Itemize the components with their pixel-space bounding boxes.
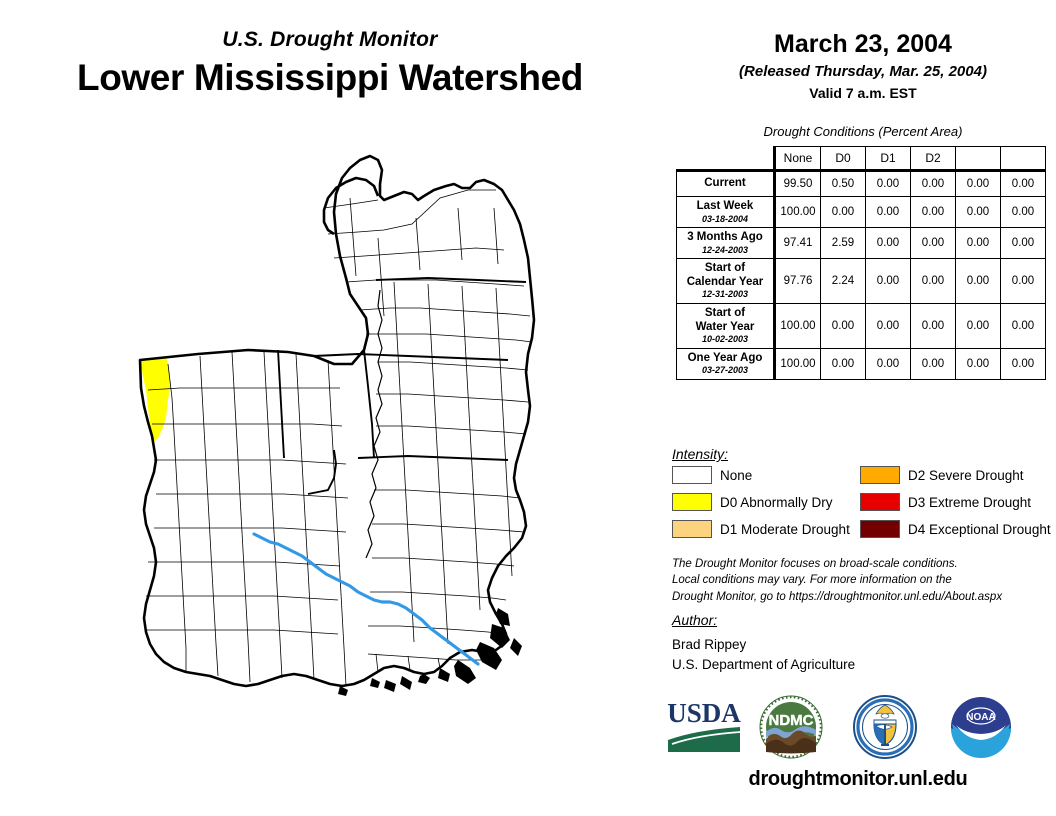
logo-row: USDA NDMC NOAA — [660, 694, 1056, 764]
column-header-d1: D1 — [866, 147, 911, 171]
cell-d3: 0.00 — [956, 197, 1001, 228]
author-label: Author: — [672, 612, 717, 628]
cell-d0: 0.00 — [821, 348, 866, 379]
row-label: One Year Ago03-27-2003 — [677, 348, 775, 379]
legend-swatch-d4 — [860, 520, 900, 538]
column-header-d2: D2 — [911, 147, 956, 171]
row-label-text: Last Week — [679, 200, 771, 214]
legend-swatch-d0 — [672, 493, 712, 511]
cell-d2: 0.00 — [911, 348, 956, 379]
author-organization: U.S. Department of Agriculture — [672, 655, 855, 675]
author-block: Brad Rippey U.S. Department of Agricultu… — [672, 635, 855, 674]
cell-d3: 0.00 — [956, 304, 1001, 349]
row-label-date: 10-02-2003 — [679, 334, 771, 345]
table-row: 3 Months Ago12-24-200397.412.590.000.000… — [677, 228, 1046, 259]
cell-d4: 0.00 — [1001, 197, 1046, 228]
legend-label: None — [720, 468, 752, 483]
row-label: Last Week03-18-2004 — [677, 197, 775, 228]
legend-item-d2: D2 Severe Drought — [860, 466, 1046, 484]
row-label-text: 3 Months Ago — [679, 231, 771, 245]
row-label-text: Start of — [679, 262, 771, 276]
cell-d1: 0.00 — [866, 197, 911, 228]
author-name: Brad Rippey — [672, 635, 855, 655]
legend-item-d0: D0 Abnormally Dry — [672, 493, 858, 511]
row-label-text: Water Year — [679, 321, 771, 335]
legend-item-d1: D1 Moderate Drought — [672, 520, 858, 538]
column-header-d3: D3 — [956, 147, 1001, 171]
cell-d3: 0.00 — [956, 348, 1001, 379]
cell-none: 97.76 — [775, 259, 821, 304]
commerce-seal — [852, 694, 918, 760]
row-label-date: 03-27-2003 — [679, 365, 771, 376]
cell-d0: 0.50 — [821, 171, 866, 197]
cell-none: 99.50 — [775, 171, 821, 197]
cell-d1: 0.00 — [866, 171, 911, 197]
row-label-date: 12-24-2003 — [679, 245, 771, 256]
row-label-text: One Year Ago — [679, 352, 771, 366]
column-header-none: None — [775, 147, 821, 171]
svg-text:NDMC: NDMC — [769, 712, 814, 729]
row-label-text: Current — [679, 177, 771, 191]
county-boundaries — [146, 190, 532, 686]
cell-d2: 0.00 — [911, 228, 956, 259]
mississippi-river — [254, 534, 478, 664]
cell-d0: 2.24 — [821, 259, 866, 304]
cell-d1: 0.00 — [866, 228, 911, 259]
legend-item-d4: D4 Exceptional Drought — [860, 520, 1046, 538]
release-date: (Released Thursday, Mar. 25, 2004) — [670, 63, 1056, 80]
row-label-date: 12-31-2003 — [679, 289, 771, 300]
ndmc-logo: NDMC — [758, 694, 824, 760]
cell-none: 100.00 — [775, 348, 821, 379]
disclaimer-line-3: Drought Monitor, go to https://droughtmo… — [672, 589, 1056, 605]
cell-none: 97.41 — [775, 228, 821, 259]
cell-d3: 0.00 — [956, 259, 1001, 304]
cell-d1: 0.00 — [866, 259, 911, 304]
cell-d2: 0.00 — [911, 259, 956, 304]
column-header-d0: D0 — [821, 147, 866, 171]
cell-none: 100.00 — [775, 197, 821, 228]
table-corner-cell — [677, 147, 775, 171]
row-label: Start ofWater Year10-02-2003 — [677, 304, 775, 349]
legend-label: D3 Extreme Drought — [908, 495, 1031, 510]
legend-label: D2 Severe Drought — [908, 468, 1024, 483]
disclaimer-line-2: Local conditions may vary. For more info… — [672, 572, 1056, 588]
date-block: March 23, 2004 (Released Thursday, Mar. … — [670, 30, 1056, 101]
legend-swatch-d2 — [860, 466, 900, 484]
cell-d1: 0.00 — [866, 348, 911, 379]
table-row: Start ofCalendar Year12-31-200397.762.24… — [677, 259, 1046, 304]
cell-d3: 0.00 — [956, 228, 1001, 259]
watershed-outline — [140, 156, 534, 686]
cell-d0: 0.00 — [821, 304, 866, 349]
page-subtitle: U.S. Drought Monitor — [0, 28, 660, 52]
cell-d3: 0.00 — [956, 171, 1001, 197]
valid-time: Valid 7 a.m. EST — [670, 85, 1056, 101]
legend-swatch-none — [672, 466, 712, 484]
row-label-text: Calendar Year — [679, 276, 771, 290]
legend-item-d3: D3 Extreme Drought — [860, 493, 1046, 511]
legend-swatch-d1 — [672, 520, 712, 538]
table-header-row: None D0 D1 D2 D3 D4 — [677, 147, 1046, 171]
drought-map — [128, 138, 558, 808]
cell-d2: 0.00 — [911, 171, 956, 197]
table-row: Last Week03-18-2004100.000.000.000.000.0… — [677, 197, 1046, 228]
intensity-legend: NoneD2 Severe DroughtD0 Abnormally DryD3… — [672, 466, 1052, 538]
column-header-d4: D4 — [1001, 147, 1046, 171]
cell-d2: 0.00 — [911, 197, 956, 228]
row-label: Current — [677, 171, 775, 197]
intensity-legend-title: Intensity: — [672, 446, 728, 462]
cell-none: 100.00 — [775, 304, 821, 349]
cell-d1: 0.00 — [866, 304, 911, 349]
svg-text:USDA: USDA — [667, 698, 741, 728]
cell-d4: 0.00 — [1001, 171, 1046, 197]
table-body: Current99.500.500.000.000.000.00Last Wee… — [677, 171, 1046, 380]
table-header: None D0 D1 D2 D3 D4 — [677, 147, 1046, 171]
page-title: Lower Mississippi Watershed — [0, 57, 660, 99]
row-label: 3 Months Ago12-24-2003 — [677, 228, 775, 259]
watershed-map-svg — [128, 138, 558, 808]
cell-d4: 0.00 — [1001, 348, 1046, 379]
disclaimer-line-1: The Drought Monitor focuses on broad-sca… — [672, 556, 1056, 572]
map-date: March 23, 2004 — [670, 30, 1056, 59]
d0-abnormally-dry-area — [140, 356, 170, 442]
table-row: Current99.500.500.000.000.000.00 — [677, 171, 1046, 197]
noaa-logo: NOAA — [948, 694, 1014, 760]
table-row: One Year Ago03-27-2003100.000.000.000.00… — [677, 348, 1046, 379]
table-caption: Drought Conditions (Percent Area) — [670, 124, 1056, 139]
title-block: U.S. Drought Monitor Lower Mississippi W… — [0, 28, 660, 99]
svg-text:NOAA: NOAA — [966, 712, 995, 723]
gulf-coast-delta — [338, 608, 522, 696]
cell-d4: 0.00 — [1001, 228, 1046, 259]
legend-item-none: None — [672, 466, 858, 484]
table-row: Start ofWater Year10-02-2003100.000.000.… — [677, 304, 1046, 349]
cell-d4: 0.00 — [1001, 304, 1046, 349]
legend-label: D0 Abnormally Dry — [720, 495, 833, 510]
row-label: Start ofCalendar Year12-31-2003 — [677, 259, 775, 304]
cell-d0: 0.00 — [821, 197, 866, 228]
state-boundaries — [278, 278, 526, 494]
usda-logo: USDA — [666, 694, 742, 756]
row-label-text: Start of — [679, 307, 771, 321]
drought-conditions-table: None D0 D1 D2 D3 D4 Current99.500.500.00… — [676, 146, 1046, 380]
disclaimer-text: The Drought Monitor focuses on broad-sca… — [672, 556, 1056, 605]
cell-d0: 2.59 — [821, 228, 866, 259]
row-label-date: 03-18-2004 — [679, 214, 771, 225]
legend-label: D4 Exceptional Drought — [908, 522, 1051, 537]
legend-swatch-d3 — [860, 493, 900, 511]
cell-d2: 0.00 — [911, 304, 956, 349]
legend-label: D1 Moderate Drought — [720, 522, 850, 537]
website-url: droughtmonitor.unl.edu — [660, 768, 1056, 791]
cell-d4: 0.00 — [1001, 259, 1046, 304]
